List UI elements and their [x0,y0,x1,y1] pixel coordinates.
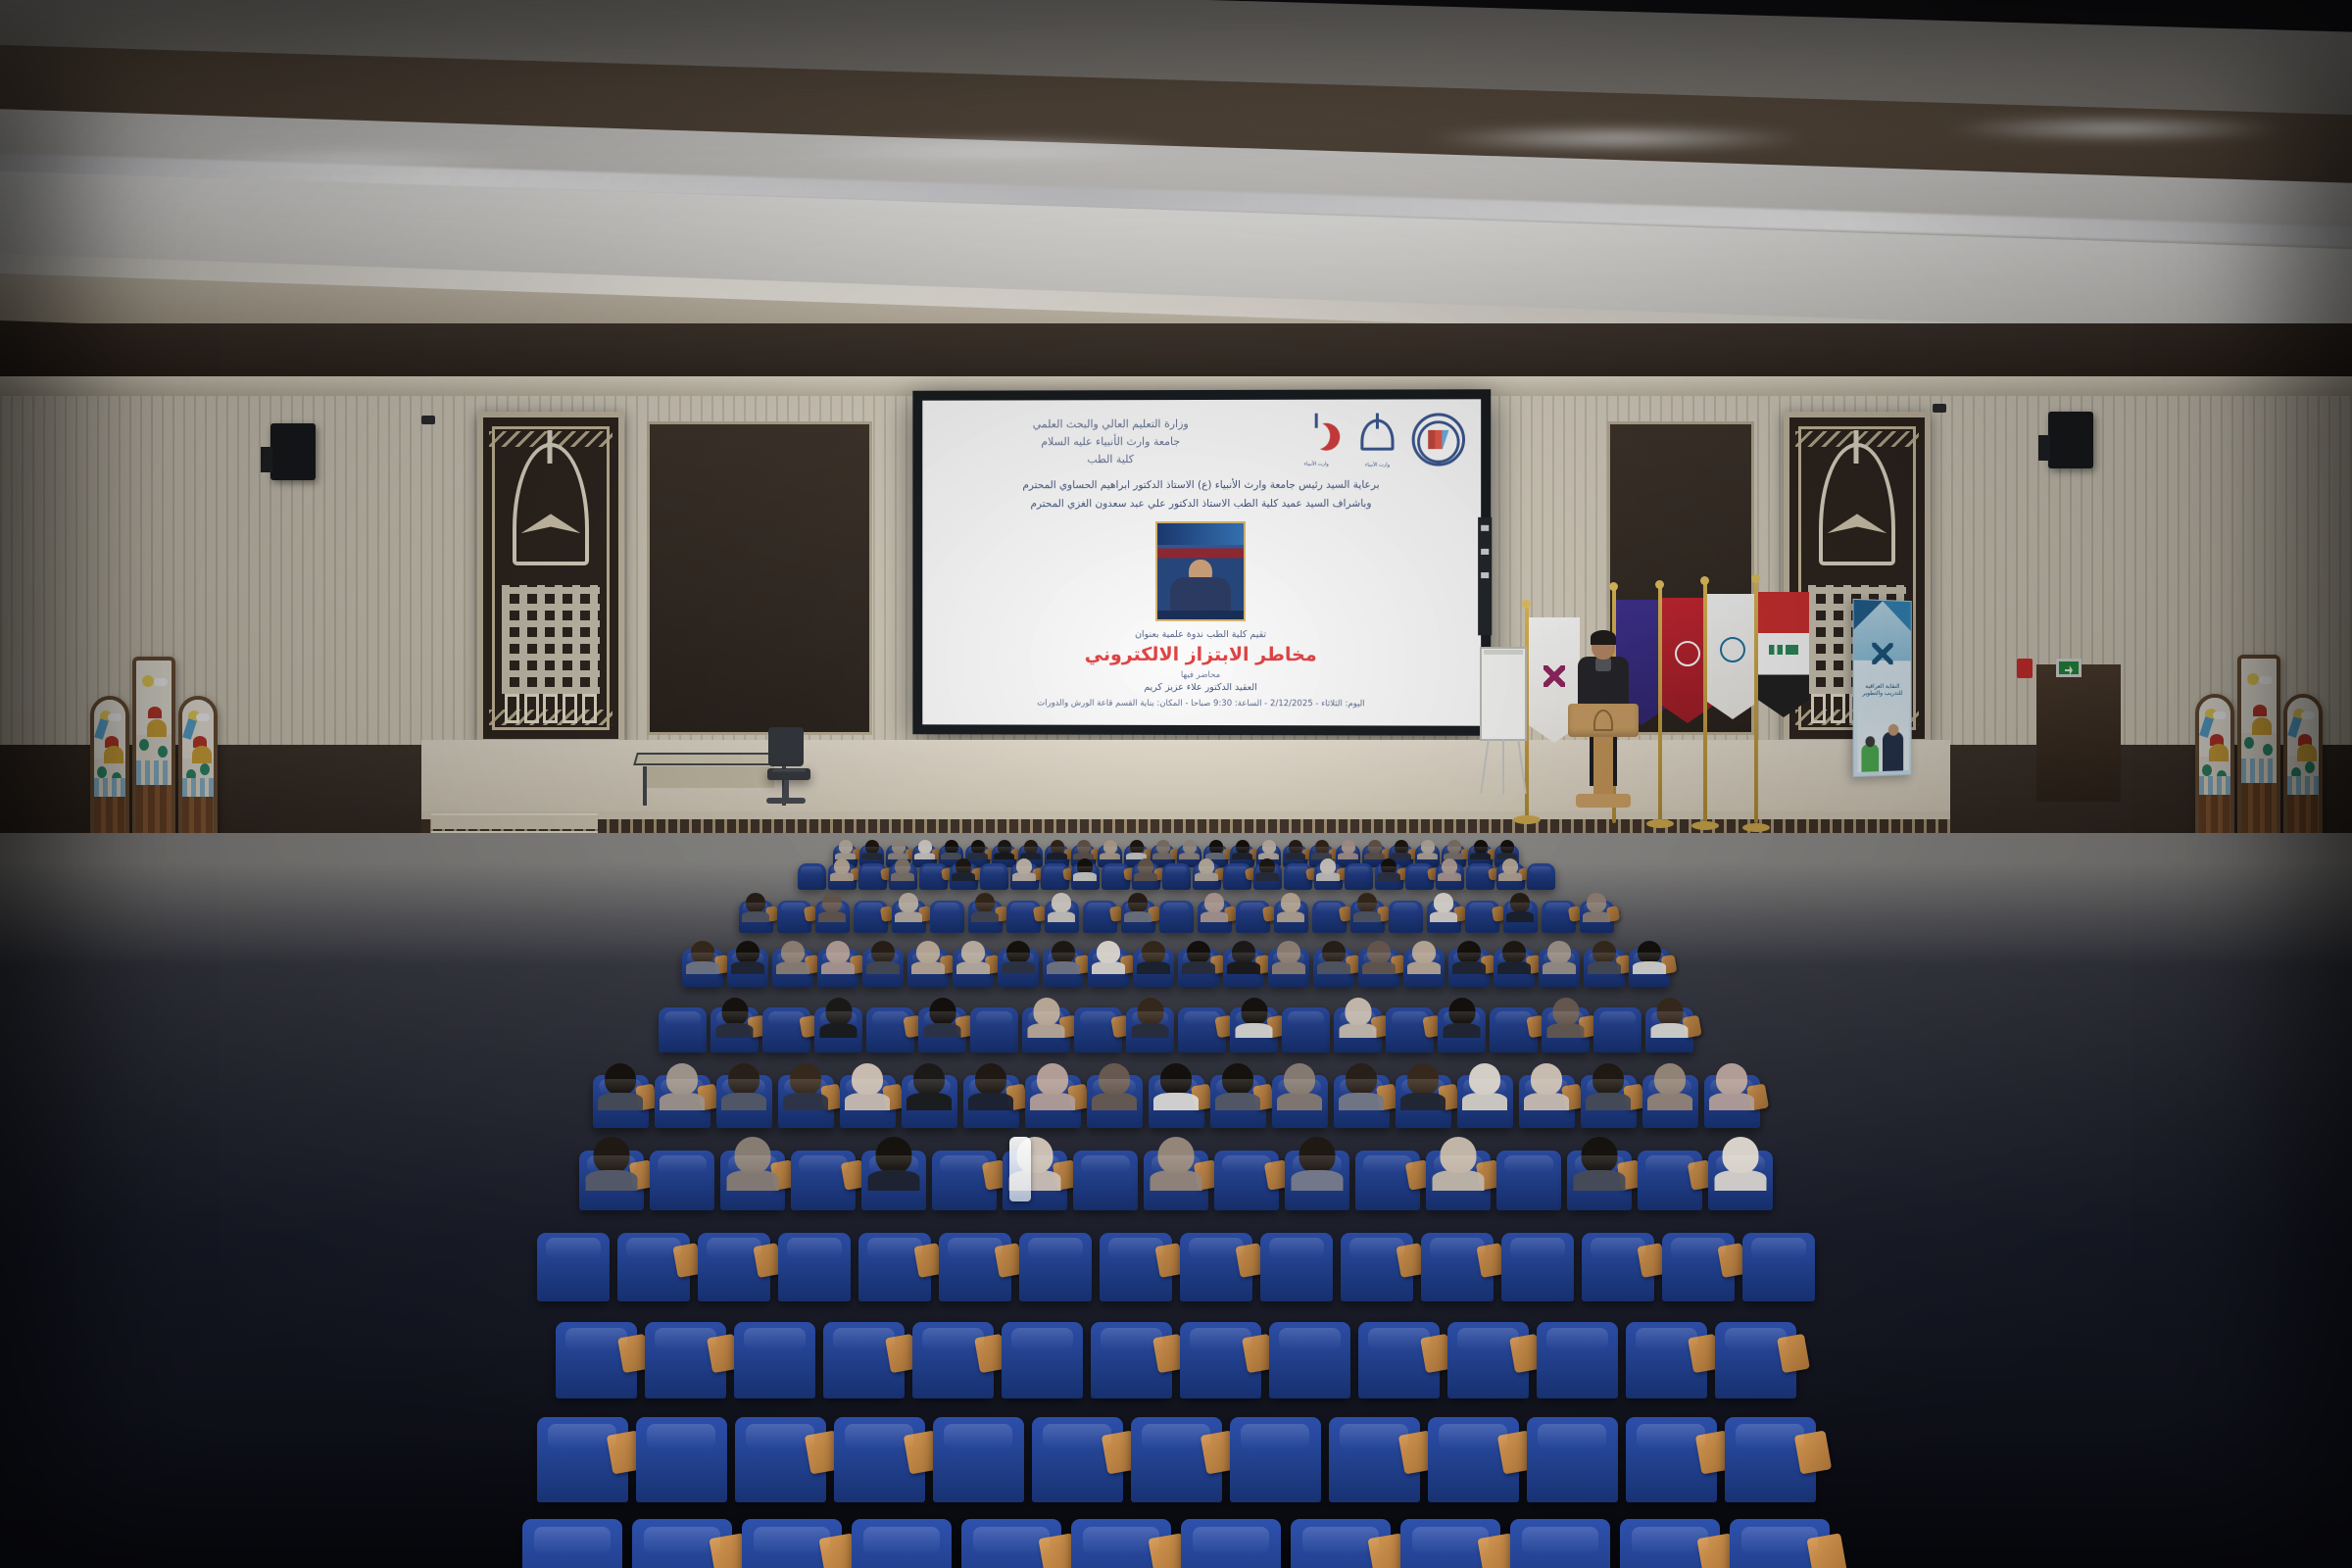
auditorium-seat[interactable] [1358,1322,1440,1398]
fire-alarm-icon[interactable] [2017,659,2033,678]
auditorium-seat[interactable] [1131,1417,1222,1502]
audience-hair [1357,893,1377,912]
auditorium-seat[interactable] [1210,1075,1266,1128]
auditorium-seat[interactable] [1144,1151,1208,1210]
auditorium-seat[interactable] [1350,901,1385,933]
auditorium-seat[interactable] [1223,949,1264,987]
audience-hijab [1281,893,1300,912]
audience-shoulders [1633,961,1667,974]
auditorium-seat[interactable] [1510,1519,1610,1568]
auditorium-seat[interactable] [1274,901,1308,933]
auditorium-seat[interactable] [1091,1322,1172,1398]
auditorium-seat[interactable] [1645,1007,1693,1053]
chair-post [784,780,789,800]
audience-member [1128,893,1148,912]
auditorium-seat[interactable] [950,863,978,890]
audience-hijab [1342,840,1355,854]
audience-member [1138,858,1153,874]
auditorium-seat[interactable] [1494,949,1535,987]
auditorium-seat[interactable] [778,1233,851,1301]
audience-member [1502,858,1518,874]
audience-hijab [1099,1063,1130,1095]
flag-base [1646,819,1674,828]
audience-hijab [895,858,910,874]
auditorium-seat[interactable] [1490,1007,1538,1053]
auditorium-seat[interactable] [1268,949,1309,987]
audience-hijab [1502,858,1518,874]
auditorium-seat[interactable] [739,901,773,933]
auditorium-seat[interactable] [1527,863,1555,890]
auditorium-seat[interactable] [1375,863,1403,890]
seat-writing-tablet [1806,1534,1847,1568]
auditorium-seat[interactable] [1742,1233,1815,1301]
presentation-slide: وارث الأنبياء وارث الأنبياء وزارة التعلي… [922,399,1481,725]
audience-member [1315,840,1329,854]
audience-hijab [1156,840,1170,854]
auditorium-seat[interactable] [953,949,994,987]
auditorium-seat[interactable] [1272,1075,1328,1128]
kufic-panel-left [477,412,624,745]
flag-finial [1655,580,1664,589]
auditorium-seat[interactable] [1314,863,1343,890]
auditorium-seat[interactable] [862,949,904,987]
red-crescent-emblem-label: وارث الأنبياء [1290,462,1343,467]
auditorium-seat[interactable] [939,1233,1011,1301]
auditorium-seat[interactable] [1087,1075,1143,1128]
auditorium-seat[interactable] [1405,863,1434,890]
auditorium-seat[interactable] [1236,901,1270,933]
audience-hair [594,1137,630,1173]
auditorium-seat[interactable] [1002,1322,1083,1398]
audience-hair [691,941,714,963]
auditorium-seat[interactable] [1043,949,1084,987]
auditorium-seat[interactable] [854,901,888,933]
auditorium-seat[interactable] [834,1417,925,1502]
auditorium-seat[interactable] [1022,1007,1070,1053]
auditorium-seat[interactable] [659,1007,707,1053]
auditorium-seat[interactable] [892,901,926,933]
auditorium-seat[interactable] [1045,901,1079,933]
audience-member [1531,1063,1562,1095]
auditorium-seat[interactable] [1121,901,1155,933]
audience-hijab [961,941,985,963]
auditorium-seat[interactable] [1620,1519,1720,1568]
auditorium-seat[interactable] [1496,863,1525,890]
auditorium-seat[interactable] [968,901,1003,933]
audience-member [899,893,918,912]
auditorium-seat[interactable] [1496,1151,1561,1210]
ministry-line-1: وزارة التعليم العالي والبحث العلمي [938,416,1284,434]
ceiling-light-glow [176,147,529,172]
auditorium-seat[interactable] [902,1075,957,1128]
auditorium-seat[interactable] [1539,949,1580,987]
audience-shoulders [1048,911,1076,922]
audience-shoulders [1092,961,1126,974]
auditorium-seat[interactable] [1284,863,1312,890]
audience-hair [1322,941,1346,963]
audience-shoulders [1073,872,1096,881]
audience-hair [1024,840,1038,854]
exit-sign-icon[interactable] [2056,659,2082,677]
auditorium-seat[interactable] [1448,949,1490,987]
audience-member [1592,941,1616,963]
audience-shoulders [1438,872,1460,881]
audience-shoulders [660,1093,705,1110]
auditorium-seat[interactable] [1584,949,1625,987]
police-directorate-seal-icon [1412,413,1465,465]
auditorium-seat[interactable] [1006,901,1041,933]
auditorium-seat[interactable] [1567,1151,1632,1210]
auditorium-seat[interactable] [918,1007,966,1053]
auditorium-seat[interactable] [522,1519,622,1568]
auditorium-seat[interactable] [817,949,858,987]
auditorium-seat[interactable] [866,1007,914,1053]
auditorium-seat[interactable] [1100,1233,1172,1301]
university-emblem-label: وارث الأنبياء [1350,463,1403,468]
audience-hijab [1033,998,1059,1025]
audience-hair [975,893,995,912]
audience-shoulders [1030,1093,1075,1110]
screen-button-up[interactable] [1481,525,1489,531]
banner-person-green [1861,744,1879,772]
audience-shoulders [1027,1023,1065,1039]
screen-button-down[interactable] [1481,572,1489,578]
art-panel [90,696,129,843]
audience-hair [1448,998,1475,1025]
screen-button-stop[interactable] [1481,549,1489,555]
audience-hijab [1345,998,1371,1025]
audience-hijab [1434,893,1453,912]
audience-shoulders [1498,872,1521,881]
auditorium-seat[interactable] [1180,1322,1261,1398]
auditorium-seat[interactable] [930,901,964,933]
audience-member [1582,1137,1618,1173]
auditorium-seat[interactable] [791,1151,856,1210]
auditorium-seat[interactable] [655,1075,710,1128]
wall-speaker [2048,412,2093,468]
auditorium-seat[interactable] [1725,1417,1816,1502]
auditorium-seat[interactable] [1503,901,1538,933]
auditorium-seat[interactable] [1465,901,1499,933]
auditorium-seat[interactable] [1329,1417,1420,1502]
auditorium-seat[interactable] [1457,1075,1513,1128]
auditorium-seat[interactable] [1396,1075,1451,1128]
audience-shoulders [1047,853,1066,860]
auditorium-seat[interactable] [537,1417,628,1502]
auditorium-seat[interactable] [1102,863,1130,890]
screen-control-panel[interactable] [1478,517,1492,636]
audience-hijab [1232,941,1255,963]
audience-shoulders [952,872,974,881]
auditorium-seat[interactable] [1403,949,1445,987]
audience-hair [955,858,971,874]
auditorium-seat[interactable] [1253,863,1282,890]
audience-shoulders [1400,1093,1445,1110]
auditorium-seat[interactable] [1285,1151,1349,1210]
auditorium-seat[interactable] [1638,1151,1702,1210]
kufic-square-row [505,694,597,723]
audience-hair [1592,1063,1624,1095]
auditorium-seat[interactable] [617,1233,690,1301]
auditorium-seat[interactable] [593,1075,649,1128]
audience-shoulders [1524,1093,1569,1110]
auditorium-seat[interactable] [1334,1007,1382,1053]
auditorium-seat[interactable] [963,1075,1019,1128]
auditorium-seat[interactable] [1386,1007,1434,1053]
audience-member [913,1063,945,1095]
slide-ministry-block: وزارة التعليم العالي والبحث العلمي جامعة… [938,410,1284,469]
audience-shoulders [1134,872,1156,881]
auditorium-seat[interactable] [1025,1075,1081,1128]
auditorium-seat[interactable] [980,863,1008,890]
auditorium-seat[interactable] [556,1322,637,1398]
auditorium-seat[interactable] [1010,863,1039,890]
auditorium-seat[interactable] [1341,1233,1413,1301]
auditorium-seat[interactable] [1593,1007,1641,1053]
audience-shoulders [818,911,847,922]
auditorium-seat[interactable] [1421,1233,1494,1301]
audience-shoulders [1153,1093,1199,1110]
auditorium-seat[interactable] [1626,1322,1707,1398]
auditorium-seat[interactable] [852,1519,952,1568]
auditorium-seat[interactable] [1178,1007,1226,1053]
audience-member [1441,1137,1477,1173]
auditorium-seat[interactable] [1355,1151,1420,1210]
flipchart-board [1480,647,1527,741]
university-emblem-icon: وارث الأنبياء [1350,414,1403,466]
auditorium-seat[interactable] [1629,949,1670,987]
auditorium-seat[interactable] [998,949,1039,987]
auditorium-seat[interactable] [1083,901,1117,933]
audience-shoulders [1432,1170,1484,1191]
auditorium-seat[interactable] [1312,901,1347,933]
auditorium-seat[interactable] [645,1322,726,1398]
auditorium-seat[interactable] [798,863,826,890]
audience-shoulders [994,853,1013,860]
audience-shoulders [1339,1023,1377,1039]
auditorium-seat[interactable] [1581,1075,1637,1128]
auditorium-seat[interactable] [1180,1233,1252,1301]
table-apron [647,766,774,788]
auditorium-seat[interactable] [815,901,850,933]
auditorium-seat[interactable] [698,1233,770,1301]
auditorium-seat[interactable] [735,1417,826,1502]
auditorium-seat[interactable] [1345,863,1373,890]
auditorium-seat[interactable] [861,1151,926,1210]
audience-member [1592,1063,1624,1095]
auditorium-seat[interactable] [1223,863,1251,890]
presenter-collar [1595,658,1611,671]
auditorium-seat[interactable] [1626,1417,1717,1502]
auditorium-seat[interactable] [1178,949,1219,987]
ceiling-light-glow [1940,116,2293,141]
audience-member [1241,998,1267,1025]
flag-pole [1658,586,1662,821]
slide-footer: اليوم: الثلاثاء - 2/12/2025 - الساعة: 9:… [938,698,1465,711]
auditorium-seat[interactable] [1041,863,1069,890]
audience-member [1547,941,1571,963]
audience-member [1654,1063,1686,1095]
seat-row [0,1322,2352,1398]
auditorium-seat[interactable] [858,863,887,890]
auditorium-seat[interactable] [682,949,723,987]
auditorium-seat[interactable] [1436,863,1464,890]
auditorium-seat[interactable] [933,1417,1024,1502]
auditorium-seat[interactable] [1426,1151,1491,1210]
audience-shoulders [721,1093,766,1110]
auditorium-seat[interactable] [932,1151,997,1210]
auditorium-seat[interactable] [1230,1417,1321,1502]
audience-shoulders [1353,911,1382,922]
audience-shoulders [1452,961,1487,974]
audience-hair [1259,858,1275,874]
audience-hijab [918,840,932,854]
audience-member [1209,840,1223,854]
auditorium-seat[interactable] [1519,1075,1575,1128]
auditorium-seat[interactable] [1358,949,1399,987]
auditorium-seat[interactable] [828,863,857,890]
auditorium-seat[interactable] [1582,1233,1654,1301]
auditorium-seat[interactable] [720,1151,785,1210]
auditorium-seat[interactable] [636,1417,727,1502]
auditorium-seat[interactable] [1071,863,1100,890]
auditorium-seat[interactable] [1537,1322,1618,1398]
slide-presents-line: تقيم كلية الطب ندوة علمية بعنوان [938,629,1465,641]
roll-up-banner: النقابة العراقية للتدريب والتطوير [1853,599,1912,777]
wall-speaker [270,423,316,480]
auditorium-seat[interactable] [1149,1075,1204,1128]
auditorium-seat[interactable] [858,1233,931,1301]
auditorium-seat[interactable] [1133,949,1174,987]
auditorium-seat[interactable] [1428,1417,1519,1502]
auditorium-seat[interactable] [814,1007,862,1053]
auditorium-seat[interactable] [1074,1007,1122,1053]
auditorium-seat[interactable] [1198,901,1232,933]
auditorium-seat[interactable] [912,1322,994,1398]
audience-shoulders [686,961,720,974]
auditorium-seat[interactable] [1438,1007,1486,1053]
audience-hair [1187,941,1210,963]
auditorium-seat[interactable] [907,949,949,987]
auditorium-seat[interactable] [1181,1519,1281,1568]
auditorium-seat[interactable] [1427,901,1461,933]
auditorium-seat[interactable] [1269,1322,1350,1398]
slide-title: مخاطر الابتزاز الالكتروني [938,644,1465,666]
audience-hijab [1367,941,1391,963]
audience-member [1051,840,1064,854]
auditorium-seat[interactable] [1291,1519,1391,1568]
auditorium-seat[interactable] [1400,1519,1500,1568]
auditorium-seat[interactable] [1542,901,1576,933]
audience-hijab [1199,858,1214,874]
auditorium-seat[interactable] [970,1007,1018,1053]
auditorium-seat[interactable] [1708,1151,1773,1210]
audience-hair [1457,941,1481,963]
auditorium-seat[interactable] [1313,949,1354,987]
audience-shoulders [1714,1170,1766,1191]
audience-member [1322,941,1346,963]
auditorium-seat[interactable] [823,1322,905,1398]
auditorium-seat[interactable] [1704,1075,1760,1128]
auditorium-seat[interactable] [1071,1519,1171,1568]
auditorium-seat[interactable] [919,863,948,890]
patron-line-1: برعاية السيد رئيس جامعة وارث الأنبياء (ع… [938,476,1465,495]
auditorium-seat[interactable] [772,949,813,987]
auditorium-seat[interactable] [840,1075,896,1128]
auditorium-seat[interactable] [537,1233,610,1301]
audience-hair [1137,998,1163,1025]
auditorium-seat[interactable] [710,1007,759,1053]
auditorium-seat[interactable] [1126,1007,1174,1053]
auditorium-seat[interactable] [1466,863,1494,890]
auditorium-seat[interactable] [778,1075,834,1128]
auditorium-seat[interactable] [727,949,768,987]
auditorium-seat[interactable] [1730,1519,1830,1568]
auditorium-seat[interactable] [1527,1417,1618,1502]
audience-hair [975,1063,1006,1095]
audience-member [1052,893,1071,912]
auditorium-seat[interactable] [1447,1322,1529,1398]
auditorium-seat[interactable] [1230,1007,1278,1053]
flipchart-clip [1484,650,1523,655]
audience-member [1381,858,1396,874]
auditorium-seat[interactable] [889,863,917,890]
auditorium-seat[interactable] [1715,1322,1796,1398]
auditorium-seat[interactable] [1088,949,1129,987]
auditorium-seat[interactable] [1260,1233,1333,1301]
audience-hijab [1552,998,1579,1025]
audience-member [1299,1137,1336,1173]
auditorium-seat[interactable] [1642,1075,1698,1128]
auditorium-seat[interactable] [1073,1151,1138,1210]
audience-member [826,941,850,963]
auditorium-seat[interactable] [1501,1233,1574,1301]
auditorium-seat[interactable] [777,901,811,933]
auditorium-seat[interactable] [579,1151,644,1210]
audience-shoulders [1285,853,1304,860]
auditorium-seat[interactable] [1389,901,1423,933]
auditorium-seat[interactable] [650,1151,714,1210]
auditorium-seat[interactable] [1542,1007,1590,1053]
audience-shoulders [968,1093,1013,1110]
auditorium-seat[interactable] [1193,863,1221,890]
auditorium-seat[interactable] [1132,863,1160,890]
auditorium-seat[interactable] [742,1519,842,1568]
audience-member [834,858,850,874]
audience-shoulders [819,1023,857,1039]
flag-base [1742,823,1770,832]
auditorium-seat[interactable] [1214,1151,1279,1210]
auditorium-seat[interactable] [1019,1233,1092,1301]
auditorium-seat[interactable] [1334,1075,1390,1128]
auditorium-seat[interactable] [1162,863,1191,890]
auditorium-seat[interactable] [961,1519,1061,1568]
auditorium-seat[interactable] [1662,1233,1735,1301]
auditorium-seat[interactable] [1580,901,1614,933]
auditorium-seat[interactable] [734,1322,815,1398]
auditorium-seat[interactable] [1032,1417,1123,1502]
audience-member [1346,1063,1377,1095]
flag-base [1513,815,1541,824]
audience-shoulders [1543,961,1577,974]
auditorium-seat[interactable] [1159,901,1194,933]
audience-member [1357,893,1377,912]
auditorium-seat[interactable] [1282,1007,1330,1053]
auditorium-seat[interactable] [762,1007,810,1053]
auditorium-seat[interactable] [716,1075,772,1128]
auditorium-seat[interactable] [632,1519,732,1568]
audience-member [781,941,805,963]
